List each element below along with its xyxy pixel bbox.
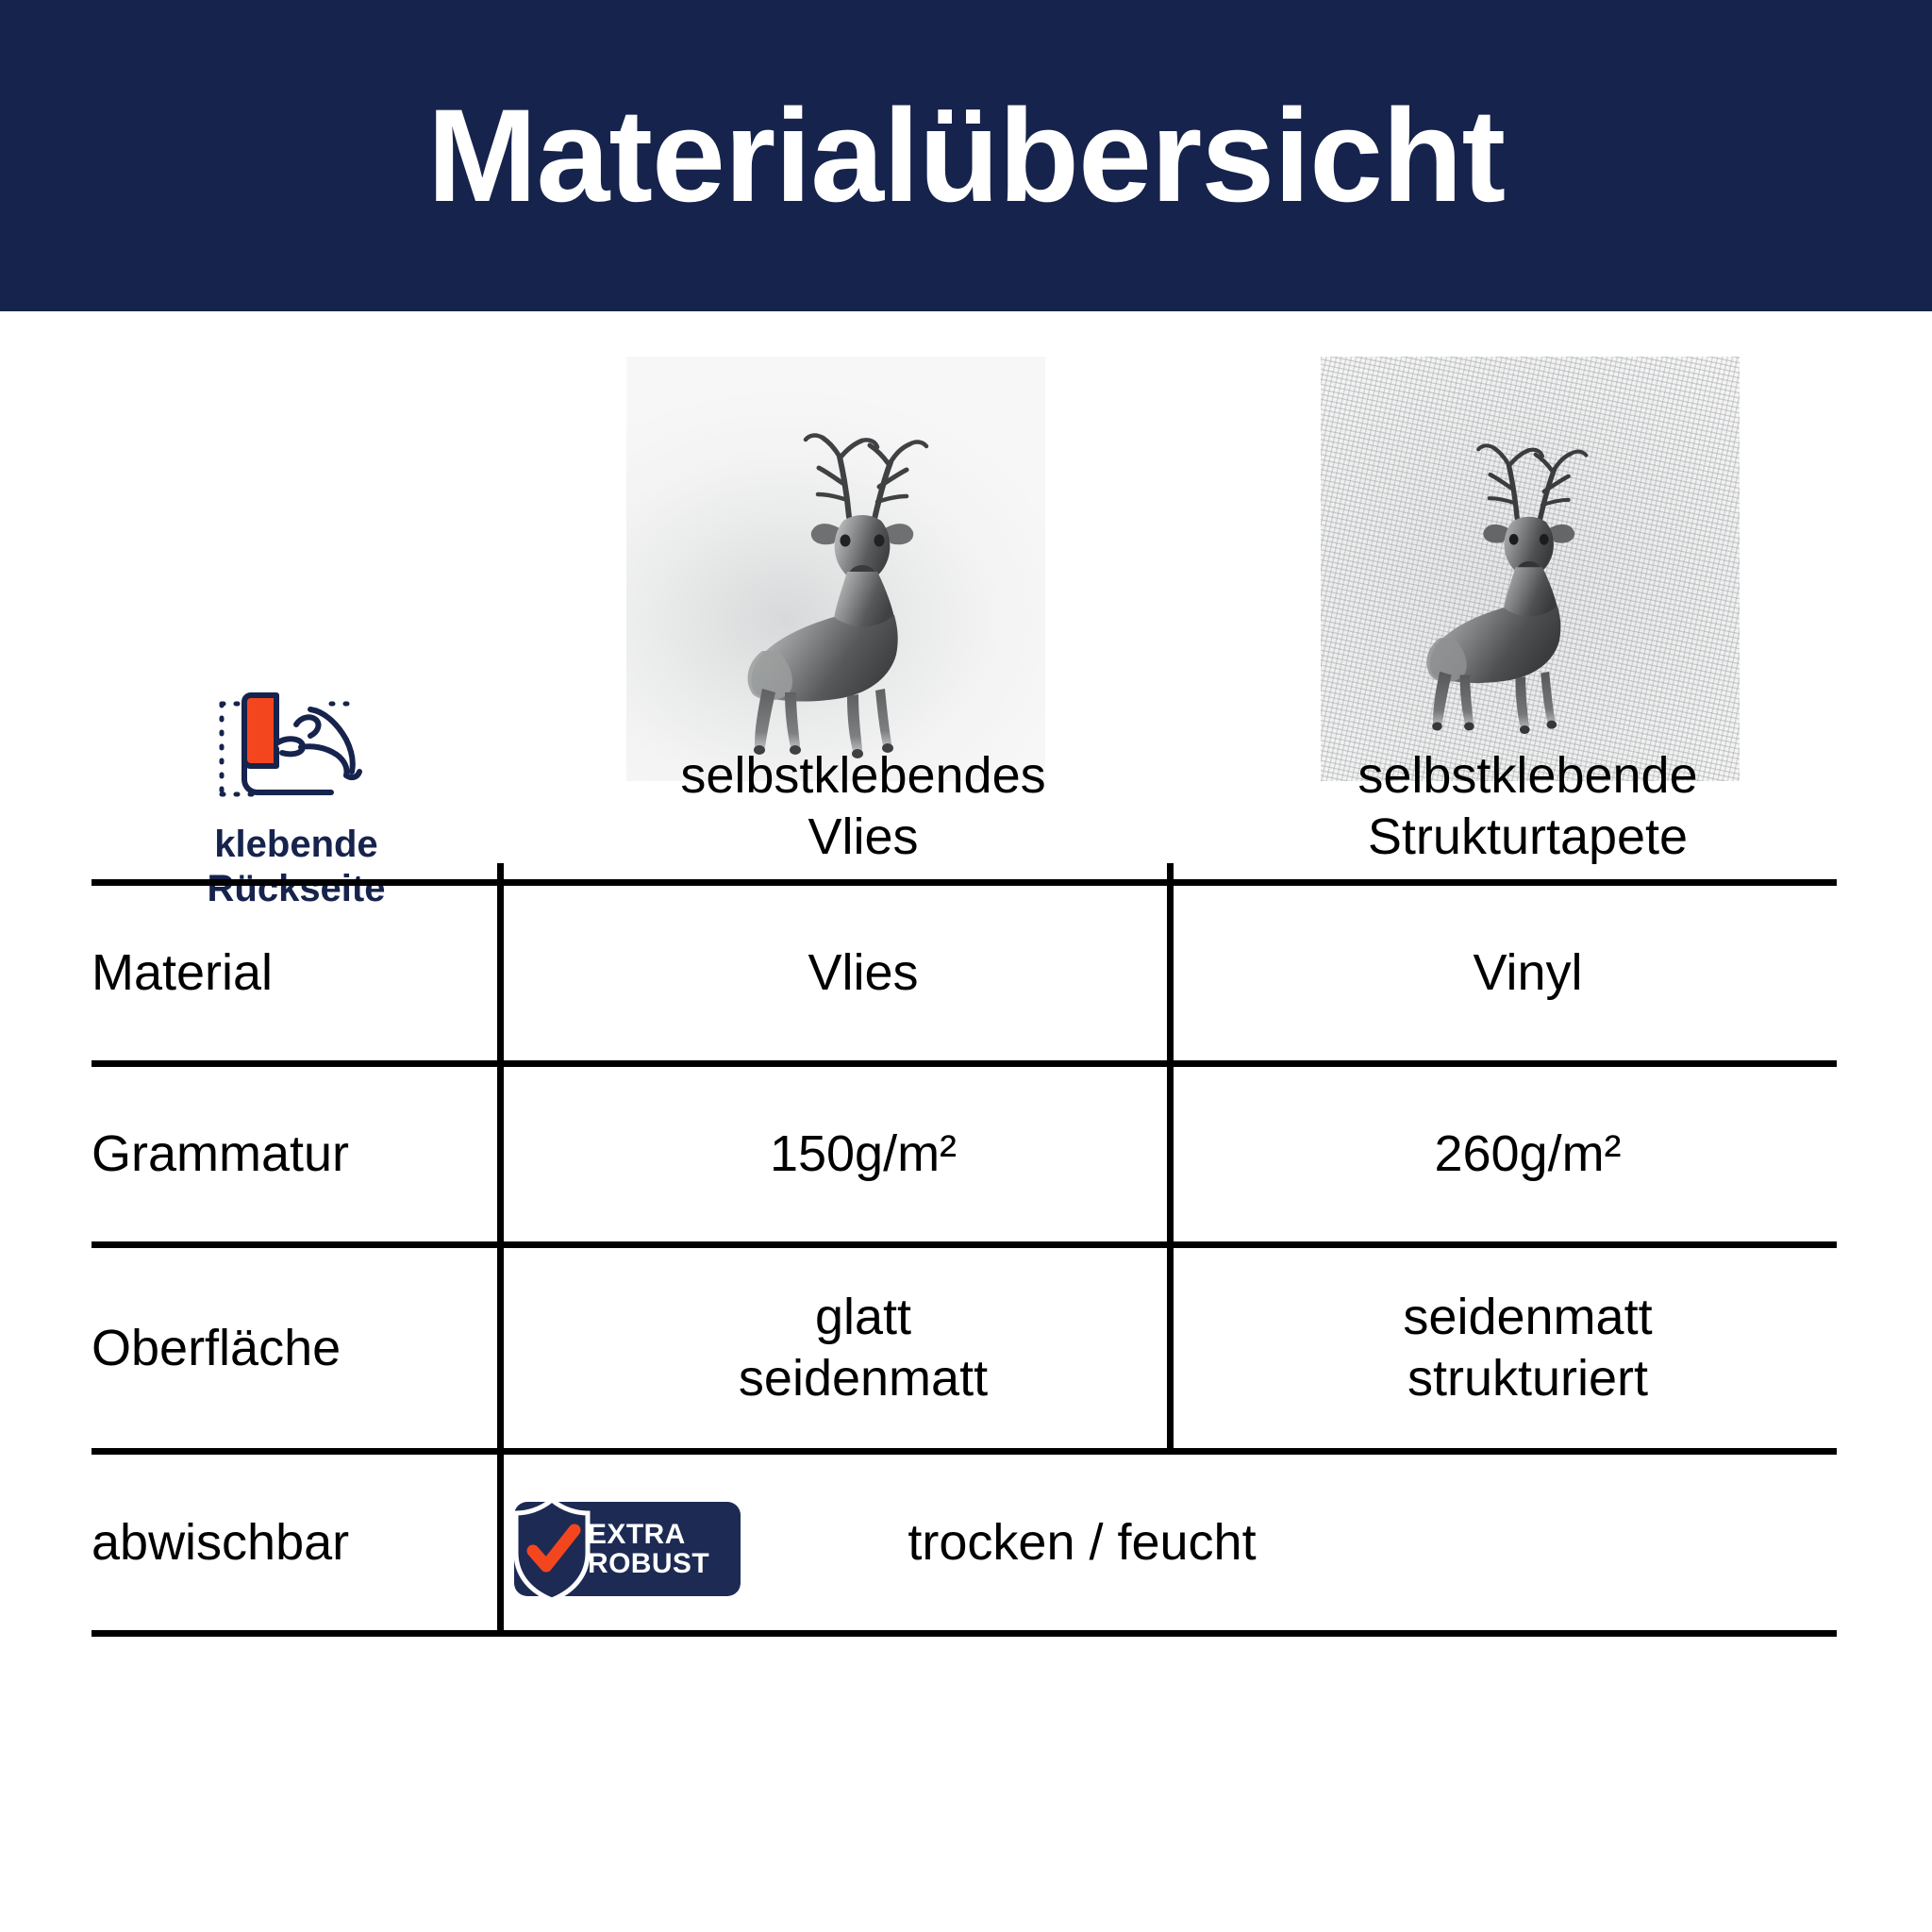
row-grammatur-vlies: 150g/m² bbox=[514, 1067, 1212, 1241]
header-vlies-line1: selbstklebendes bbox=[680, 745, 1045, 807]
stag-artwork-strukturtapete bbox=[1321, 357, 1740, 781]
page-title: Materialübersicht bbox=[427, 90, 1505, 222]
table-rule bbox=[92, 1060, 1837, 1067]
table-rule bbox=[92, 1448, 1837, 1455]
extra-robust-line1: EXTRA bbox=[588, 1520, 709, 1549]
row-label-oberflaeche: Oberfläche bbox=[92, 1248, 501, 1448]
table-rule bbox=[92, 879, 1837, 886]
table-bottom-rule bbox=[92, 1630, 1837, 1637]
header-struktur-line1: selbstklebende bbox=[1357, 745, 1697, 807]
shield-check-icon bbox=[508, 1494, 595, 1604]
sticky-back-line1: klebende bbox=[208, 823, 386, 867]
sample-image-strukturtapete: PREMIUM bbox=[1321, 357, 1740, 781]
header-vlies-line2: Vlies bbox=[808, 807, 918, 868]
peeling-sticker-hand-icon bbox=[207, 689, 386, 813]
row-label-grammatur: Grammatur bbox=[92, 1067, 501, 1241]
table-header-cell-vlies: selbstklebendes Vlies bbox=[514, 726, 1212, 887]
oberflaeche-vlies-line2: seidenmatt bbox=[739, 1348, 988, 1409]
stag-artwork-vlies bbox=[626, 357, 1045, 781]
table-divider-col1 bbox=[497, 863, 504, 1637]
header-struktur-line2: Strukturtapete bbox=[1368, 807, 1688, 868]
sticky-back-block: klebende Rückseite bbox=[92, 689, 501, 911]
row-material-vlies: Vlies bbox=[514, 886, 1212, 1060]
row-abwischbar-value: trocken / feucht bbox=[790, 1455, 1374, 1630]
oberflaeche-vlies-line1: glatt bbox=[815, 1287, 911, 1348]
row-oberflaeche-vinyl: seidenmatt strukturiert bbox=[1219, 1248, 1837, 1448]
row-label-abwischbar: abwischbar bbox=[92, 1455, 501, 1630]
table-divider-col2 bbox=[1167, 863, 1174, 1448]
row-label-material: Material bbox=[92, 886, 501, 1060]
table-rule bbox=[92, 1241, 1837, 1248]
sample-image-vlies: PREMIUM bbox=[626, 357, 1045, 781]
extra-robust-line2: ROBUST bbox=[588, 1549, 709, 1578]
table-header-cell-strukturtapete: selbstklebende Strukturtapete bbox=[1219, 726, 1837, 887]
row-oberflaeche-vlies: glatt seidenmatt bbox=[514, 1248, 1212, 1448]
row-grammatur-vinyl: 260g/m² bbox=[1219, 1067, 1837, 1241]
oberflaeche-vinyl-line1: seidenmatt bbox=[1403, 1287, 1652, 1348]
material-overview-page: Materialübersicht bbox=[0, 0, 1932, 1932]
row-material-vinyl: Vinyl bbox=[1219, 886, 1837, 1060]
page-header: Materialübersicht bbox=[0, 0, 1932, 311]
extra-robust-badge: EXTRA ROBUST bbox=[514, 1502, 741, 1596]
oberflaeche-vinyl-line2: strukturiert bbox=[1407, 1348, 1648, 1409]
